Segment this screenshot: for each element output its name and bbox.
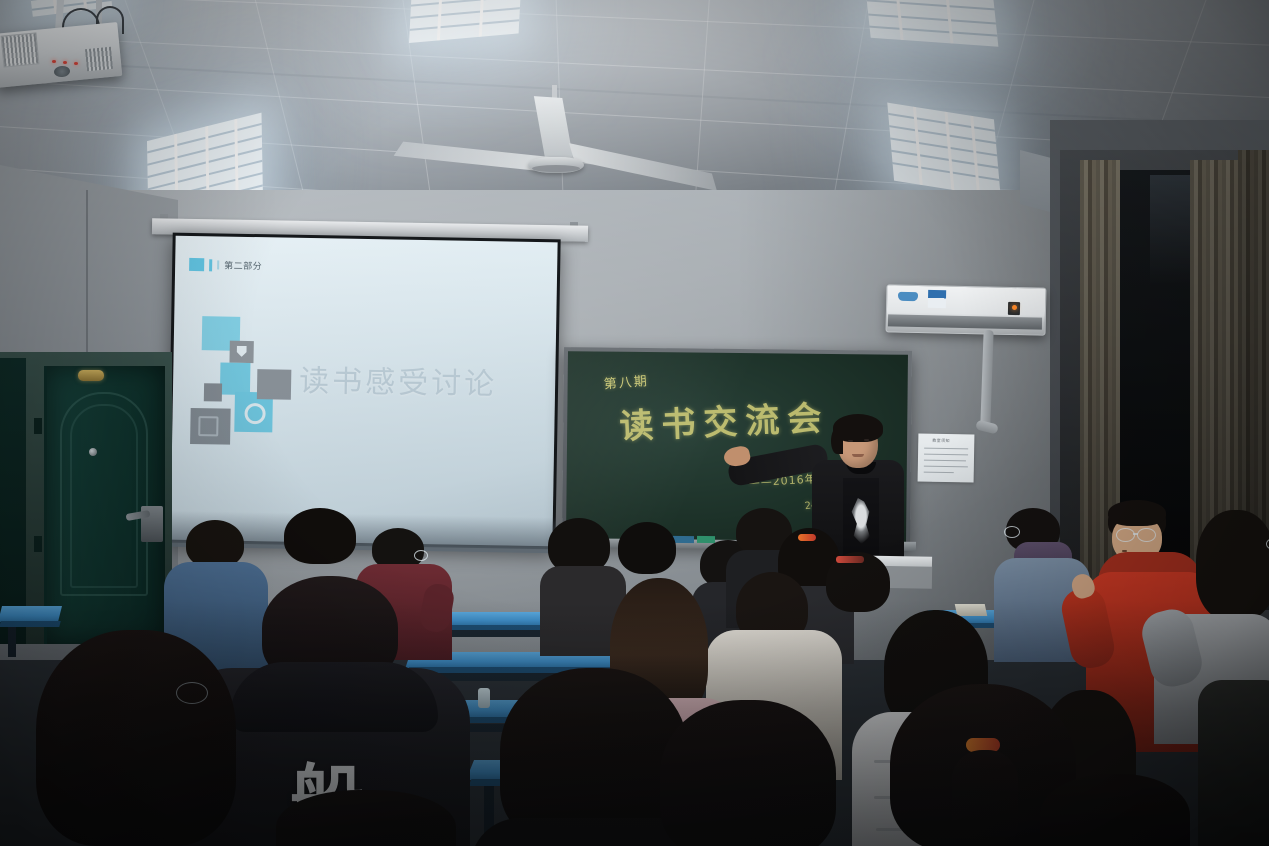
notebook-stack[interactable] — [955, 604, 988, 616]
water-bottle[interactable] — [478, 688, 490, 708]
wall-notice: 教室须知 — [918, 434, 975, 483]
glasses-icon — [1116, 528, 1135, 542]
door-hinge — [34, 418, 42, 434]
air-conditioner-logo-icon — [898, 292, 918, 301]
air-conditioner-label — [928, 290, 946, 308]
blackboard: 第八期 读书交流会 ——2016年11月 24号 — [562, 347, 912, 549]
door-open-leaf[interactable] — [0, 358, 26, 644]
hair-tie — [798, 534, 816, 541]
projection-screen: 第二部分 读书感受讨论 — [167, 233, 560, 550]
door-hinge — [34, 536, 42, 552]
door-peephole-icon — [89, 448, 97, 456]
projector-vent — [85, 47, 113, 71]
presentation-slide: 第二部分 读书感受讨论 — [170, 236, 557, 547]
chalk-tray-item[interactable] — [697, 536, 715, 543]
wall-notice-title: 教室须知 — [932, 438, 950, 444]
hoodie-hood — [230, 662, 438, 732]
projector-indicator-led — [74, 62, 78, 65]
door-panel — [70, 404, 138, 588]
power-indicator-icon — [1012, 305, 1017, 310]
classroom-photo: 第二部分 读书感受讨论 第八期 读书交流会 ——2016年11月 24号 教室须… — [0, 0, 1269, 846]
hair-clip — [836, 556, 864, 563]
projector-indicator-led — [52, 60, 56, 63]
projector-indicator-led — [63, 61, 67, 64]
glasses-icon — [1137, 528, 1156, 542]
door-room-plate — [78, 370, 104, 381]
desk-row — [0, 606, 60, 658]
glasses-icon — [176, 682, 208, 704]
projector-vent — [1, 32, 40, 67]
